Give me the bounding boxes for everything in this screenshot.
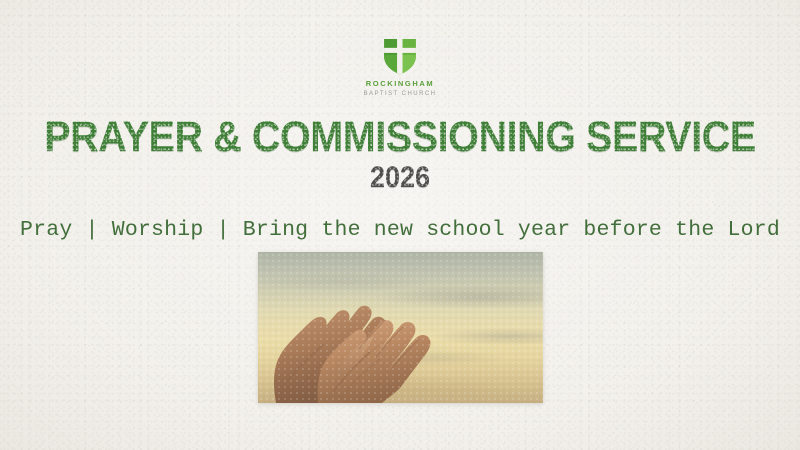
church-logo: ROCKINGHAM BAPTIST CHURCH	[0, 34, 800, 97]
logo-org-subtitle: BAPTIST CHURCH	[364, 91, 437, 98]
logo-org-name: ROCKINGHAM	[366, 80, 435, 88]
praying-hands-illustration	[258, 252, 543, 403]
shield-cross-logo-icon	[379, 34, 421, 76]
event-year: 2026	[40, 163, 760, 193]
slide-canvas: ROCKINGHAM BAPTIST CHURCH PRAYER & COMMI…	[0, 0, 800, 450]
page-title: PRAYER & COMMISSIONING SERVICE	[32, 116, 768, 159]
praying-hands-photo	[258, 252, 543, 403]
event-tagline: Pray | Worship | Bring the new school ye…	[0, 218, 800, 243]
